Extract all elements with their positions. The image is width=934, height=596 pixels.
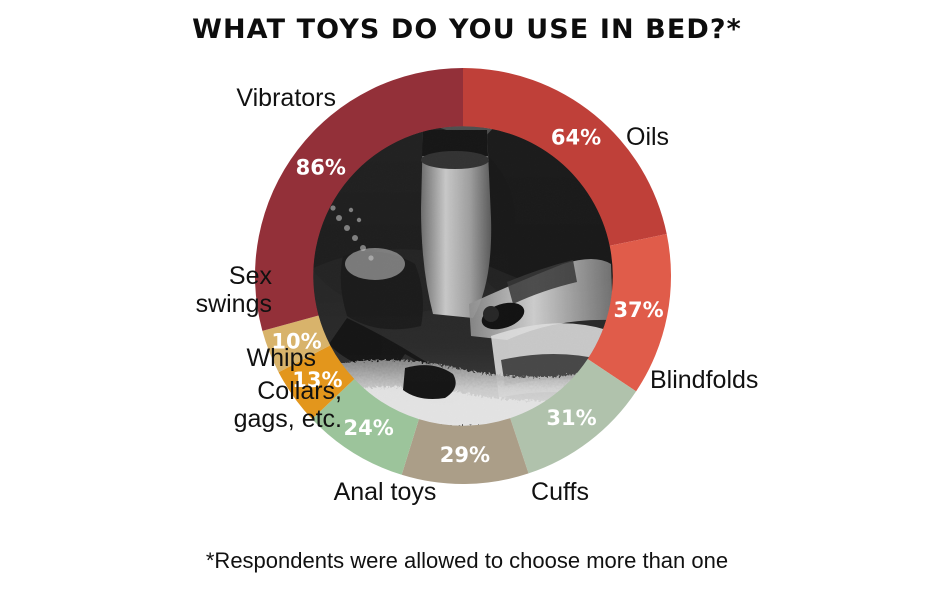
slice-value-vibrators: 86% — [296, 155, 346, 179]
footnote: *Respondents were allowed to choose more… — [0, 548, 934, 574]
category-label-anal-toys: Anal toys — [310, 478, 460, 506]
category-label-oils: Oils — [626, 123, 746, 151]
slice-value-anal-toys: 29% — [440, 443, 490, 467]
slice-value-blindfolds: 37% — [613, 298, 663, 322]
slice-value-oils: 64% — [551, 125, 601, 149]
category-label-blindfolds: Blindfolds — [650, 366, 810, 394]
page-title: WHAT TOYS DO YOU USE IN BED?* — [0, 14, 934, 45]
category-label-whips: Whips — [166, 344, 316, 372]
infographic-canvas: WHAT TOYS DO YOU USE IN BED?* — [0, 0, 934, 596]
slice-value-cuffs: 31% — [546, 406, 596, 430]
category-label-collars: Collars, gags, etc. — [186, 377, 342, 433]
category-label-sex-swings: Sex swings — [156, 262, 272, 318]
slice-value-collars-gags-etc: 24% — [344, 416, 394, 440]
category-label-vibrators: Vibrators — [196, 84, 336, 112]
category-label-cuffs: Cuffs — [500, 478, 620, 506]
